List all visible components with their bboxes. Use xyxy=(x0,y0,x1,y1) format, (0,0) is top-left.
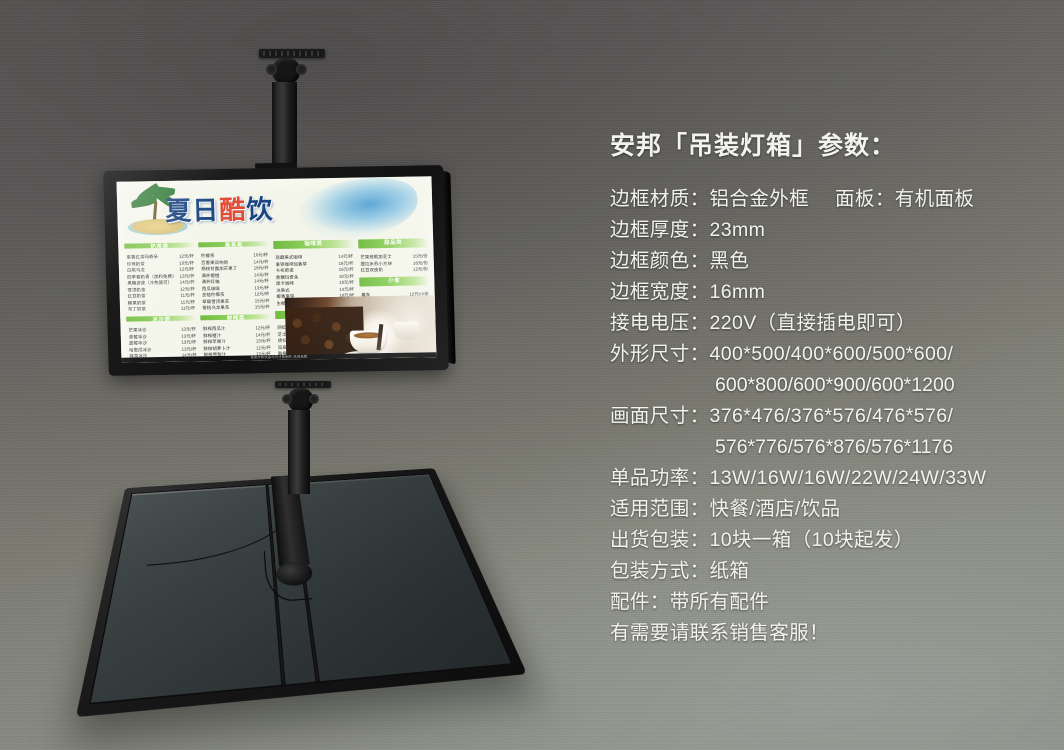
menu-section-rows: 蜜香红茶玛奇朵12元/杯珍珠奶茶10元/杯白桃乌龙12元/杯四季春奶青（加料免费… xyxy=(124,252,196,311)
pivot-nut-right xyxy=(296,64,307,75)
menu-item-name: 摩卡咖啡 xyxy=(276,281,294,286)
poster-title-char-1: 夏 xyxy=(165,195,193,225)
spec-label: 边框宽度： xyxy=(610,281,710,303)
menu-item-price: 12元/杯 xyxy=(176,266,194,271)
menu-item-name: 拿铁咖啡加香草 xyxy=(275,261,307,267)
menu-item-price: 16元/份 xyxy=(410,260,428,265)
menu-item-price: 13元/杯 xyxy=(178,333,196,338)
menu-item-price: 14元/杯 xyxy=(251,272,269,277)
spec-line: 外形尺寸：400*500/400*600/500*600/ xyxy=(610,339,1060,370)
menu-item-row: 冰美式14元/杯 xyxy=(276,286,354,292)
spec-value-secondary: 有机面板 xyxy=(895,188,975,210)
menu-item-price: 14元/杯 xyxy=(335,254,353,259)
menu-section-header: 甜品类 xyxy=(358,238,429,248)
menu-item-row: 杨枝甘露加芒果丁16元/杯 xyxy=(201,265,268,271)
menu-item-price: 10元/杯 xyxy=(176,260,194,265)
menu-item-row: 哈密瓜冰沙13元/杯 xyxy=(129,346,196,352)
spec-value-continued: 576*776/576*876/576*1176 xyxy=(610,432,1060,463)
menu-section-rows: 柠檬茶10元/杯百香果双响炮14元/杯杨枝甘露加芒果丁16元/杯满杯橙橙14元/… xyxy=(199,251,271,310)
specs-footer: 有需要请联系销售客服！ xyxy=(610,618,1060,649)
menu-item-price: 14元/杯 xyxy=(251,278,269,283)
drop-pole-lower xyxy=(288,410,310,494)
menu-item-row: 满杯红柚14元/杯 xyxy=(202,278,269,284)
spec-value-continued: 600*800/600*900/600*1200 xyxy=(610,370,1060,401)
spec-label: 出货包装： xyxy=(610,529,710,551)
menu-item-name: 鲜榨西瓜汁 xyxy=(203,326,226,331)
menu-item-row: 红豆奶茶11元/杯 xyxy=(128,292,195,298)
menu-item-name: 蜜桃乌龙果茶 xyxy=(202,305,229,310)
water-splash-illustration xyxy=(295,176,422,244)
menu-item-name: 鲜榨胡萝卜汁 xyxy=(203,345,230,350)
menu-item-name: 杨枝甘露加芒果丁 xyxy=(201,266,237,272)
menu-item-price: 10元/杯 xyxy=(250,252,268,257)
menu-item-price: 14元/杯 xyxy=(336,286,354,291)
menu-item-price: 16元/杯 xyxy=(335,260,353,265)
spec-line: 画面尺寸：376*476/376*576/476*576/ xyxy=(610,401,1060,432)
menu-item-price: 14元/杯 xyxy=(177,279,195,284)
menu-item-price: 16元/杯 xyxy=(336,267,354,272)
coffee-photo xyxy=(285,295,437,360)
menu-item-price: 13元/杯 xyxy=(179,346,197,351)
menu-item-name: 冰美式 xyxy=(276,288,290,293)
menu-poster: 夏日酷饮 奶茶类 蜜香红茶玛奇朵12元/杯珍珠奶茶10元/杯白桃乌龙12元/杯四… xyxy=(116,176,436,362)
lower-pivot-nut-left xyxy=(282,394,292,404)
unlit-lightbox-back xyxy=(89,474,513,705)
menu-item-row: 红豆双皮奶12元/份 xyxy=(361,266,428,272)
spec-line: 出货包装：10块一箱（10块起发） xyxy=(610,525,1060,556)
spec-line: 边框材质：铝合金外框面板：有机面板 xyxy=(610,184,1060,215)
spec-label: 边框材质： xyxy=(610,188,710,210)
spec-value: 220V（直接插电即可） xyxy=(710,312,916,334)
menu-item-price: 14元/杯 xyxy=(253,332,271,337)
menu-item-row: 蜜桃乌龙果茶15元/杯 xyxy=(202,304,269,310)
menu-item-name: 金桔柠檬茶 xyxy=(202,292,225,297)
menu-item-row: 满杯橙橙14元/杯 xyxy=(201,272,268,278)
poster-title-char-4: 饮 xyxy=(246,194,274,224)
spec-line: 边框宽度：16mm xyxy=(610,277,1060,308)
menu-item-price: 15元/杯 xyxy=(252,304,270,309)
menu-item-name: 黑糖波波（冷热皆可） xyxy=(127,280,172,286)
menu-item-name: 雪顶奶茶 xyxy=(127,287,145,292)
spec-value: 400*500/400*600/500*600/ xyxy=(710,343,954,365)
lower-pivot-nut-right xyxy=(309,394,319,404)
spec-label: 单品功率： xyxy=(610,467,710,489)
spec-line: 适用范围：快餐/酒店/饮品 xyxy=(610,494,1060,525)
product-photo-stage: 夏日酷饮 奶茶类 蜜香红茶玛奇朵12元/杯珍珠奶茶10元/杯白桃乌龙12元/杯四… xyxy=(0,0,1064,750)
menu-column-2: 果茶类 柠檬茶10元/杯百香果双响炮14元/杯杨枝甘露加芒果丁16元/杯满杯橙橙… xyxy=(199,241,273,357)
menu-item-name: 西瓜啵啵 xyxy=(202,285,220,290)
menu-item-row: 草莓雪顶果茶15元/杯 xyxy=(202,298,269,304)
menu-item-row: 拿铁咖啡加香草16元/杯 xyxy=(275,260,353,266)
spec-value: 黑色 xyxy=(710,250,750,272)
spec-value: 376*476/376*576/476*576/ xyxy=(710,405,954,427)
menu-item-name: 草莓冰沙 xyxy=(129,334,147,339)
poster-title: 夏日酷饮 xyxy=(165,189,274,228)
menu-section-header: 小食 xyxy=(359,276,430,286)
lower-mount-plate-holes xyxy=(279,383,327,386)
menu-section-header: 鲜榨类 xyxy=(201,314,271,320)
menu-item-name: 白桃乌龙 xyxy=(127,267,145,272)
spec-value: 纸箱 xyxy=(710,560,750,582)
menu-item-name: 鲜榨橙汁 xyxy=(203,332,221,337)
spec-line: 单品功率：13W/16W/16W/22W/24W/33W xyxy=(610,463,1060,494)
menu-item-row: 鲜榨橙汁14元/杯 xyxy=(203,332,270,338)
menu-item-row: 四季春奶青（加料免费）13元/杯 xyxy=(127,273,194,279)
menu-item-row: 椰果奶茶11元/杯 xyxy=(128,299,195,305)
menu-item-price: 12元/杯 xyxy=(253,345,271,350)
menu-item-row: 蜜香红茶玛奇朵12元/杯 xyxy=(126,253,193,259)
spec-value: 10块一箱（10块起发） xyxy=(710,529,914,551)
menu-item-price: 11元/杯 xyxy=(177,292,195,297)
menu-item-price: 16元/杯 xyxy=(251,265,269,270)
menu-item-price: 11元/杯 xyxy=(178,299,196,304)
poster-title-char-3: 酷 xyxy=(219,195,247,225)
menu-item-price: 18元/杯 xyxy=(336,273,354,278)
spec-line: 边框颜色：黑色 xyxy=(610,246,1060,277)
menu-item-row: 鲜榨胡萝卜汁12元/杯 xyxy=(203,345,270,351)
menu-item-name: 珍珠奶茶 xyxy=(127,261,145,266)
menu-item-name: 百香果双响炮 xyxy=(201,259,228,264)
menu-item-price: 12元/份 xyxy=(410,266,428,271)
spec-value: 快餐/酒店/饮品 xyxy=(710,498,841,520)
menu-item-name: 提拉米苏小方块 xyxy=(360,260,392,266)
spec-label: 包装方式： xyxy=(610,560,710,582)
menu-item-price: 13元/杯 xyxy=(253,338,271,343)
menu-section-rows: 芒果冰沙13元/杯草莓冰沙13元/杯蓝莓冰沙13元/杯哈密瓜冰沙13元/杯抹茶冰… xyxy=(127,325,198,358)
menu-item-name: 草莓雪顶果茶 xyxy=(202,298,229,303)
menu-item-row: 百香果双响炮14元/杯 xyxy=(201,259,268,265)
menu-item-row: 现磨美式咖啡14元/杯 xyxy=(275,254,353,260)
menu-item-row: 西瓜啵啵13元/杯 xyxy=(202,285,269,291)
ceiling-mount-plate xyxy=(259,49,325,58)
poster-title-char-2: 日 xyxy=(192,195,220,225)
lightbox-display-panel: 夏日酷饮 奶茶类 蜜香红茶玛奇朵12元/杯珍珠奶茶10元/杯白桃乌龙12元/杯四… xyxy=(116,176,436,362)
menu-section-header: 咖啡类 xyxy=(273,240,354,250)
menu-item-name: 焦糖玛奇朵 xyxy=(276,274,299,279)
spec-label: 配件： xyxy=(610,591,670,613)
menu-item-name: 红豆奶茶 xyxy=(128,293,146,298)
mount-plate-holes xyxy=(263,51,321,56)
menu-section-header: 冰沙类 xyxy=(126,315,196,321)
spec-line: 包装方式：纸箱 xyxy=(610,556,1060,587)
lit-lightbox: 夏日酷饮 奶茶类 蜜香红茶玛奇朵12元/杯珍珠奶茶10元/杯白桃乌龙12元/杯四… xyxy=(103,165,449,376)
menu-item-price: 12元/杯 xyxy=(176,253,194,258)
menu-section-header: 果茶类 xyxy=(199,241,269,247)
menu-item-row: 蓝莓冰沙13元/杯 xyxy=(129,339,196,345)
menu-section-header: 奶茶类 xyxy=(124,242,194,248)
menu-item-name: 现磨美式咖啡 xyxy=(275,255,302,260)
menu-section-rows: 鲜榨西瓜汁12元/杯鲜榨橙汁14元/杯鲜榨苹果汁13元/杯鲜榨胡萝卜汁12元/杯… xyxy=(201,324,272,357)
menu-item-row: 提拉米苏小方块16元/份 xyxy=(360,260,427,266)
spec-label-secondary: 面板： xyxy=(835,188,895,210)
menu-item-price: 15元/份 xyxy=(410,253,428,258)
menu-item-price: 12元/杯 xyxy=(252,325,270,330)
menu-item-name: 蓝莓冰沙 xyxy=(129,340,147,345)
spec-value: 带所有配件 xyxy=(670,591,770,613)
menu-column-1: 奶茶类 蜜香红茶玛奇朵12元/杯珍珠奶茶10元/杯白桃乌龙12元/杯四季春奶青（… xyxy=(124,242,198,358)
spec-label: 适用范围： xyxy=(610,498,710,520)
menu-section-rows: 芒果班戟加芝士15元/份提拉米苏小方块16元/份红豆双皮奶12元/份 xyxy=(358,252,429,272)
menu-item-row: 鲜榨苹果汁13元/杯 xyxy=(203,338,270,344)
menu-item-row: 金桔柠檬茶12元/杯 xyxy=(202,291,269,297)
menu-item-name: 红豆双皮奶 xyxy=(361,267,384,272)
menu-item-price: 13元/杯 xyxy=(178,339,196,344)
menu-item-row: 柠檬茶10元/杯 xyxy=(201,252,268,258)
spec-label: 外形尺寸： xyxy=(610,343,710,365)
menu-item-name: 芒果冰沙 xyxy=(129,327,147,332)
menu-item-name: 满杯红柚 xyxy=(202,279,220,284)
specifications-panel: 安邦「吊装灯箱」参数： 边框材质：铝合金外框面板：有机面板边框厚度：23mm边框… xyxy=(610,126,1060,649)
menu-item-row: 布丁奶茶11元/杯 xyxy=(128,305,195,311)
pivot-nut-left xyxy=(266,64,277,75)
spec-label: 边框厚度： xyxy=(610,219,710,241)
menu-item-row: 芒果冰沙13元/杯 xyxy=(129,326,196,332)
menu-item-price: 12元/杯 xyxy=(177,286,195,291)
menu-item-row: 珍珠奶茶10元/杯 xyxy=(127,260,194,266)
menu-item-row: 焦糖玛奇朵18元/杯 xyxy=(276,273,354,279)
menu-item-row: 雪顶奶茶12元/杯 xyxy=(127,286,194,292)
menu-item-price: 13元/杯 xyxy=(178,326,196,331)
menu-item-row: 草莓冰沙13元/杯 xyxy=(129,333,196,339)
menu-item-name: 蜜香红茶玛奇朵 xyxy=(126,254,158,260)
spec-value: 13W/16W/16W/22W/24W/33W xyxy=(710,467,987,489)
menu-item-row: 摩卡咖啡18元/杯 xyxy=(276,280,354,286)
menu-item-name: 柠檬茶 xyxy=(201,253,215,258)
lower-mount-plate xyxy=(275,381,331,388)
specs-list: 边框材质：铝合金外框面板：有机面板边框厚度：23mm边框颜色：黑色边框宽度：16… xyxy=(610,184,1060,618)
spec-line: 配件：带所有配件 xyxy=(610,587,1060,618)
menu-item-row: 芒果班戟加芝士15元/份 xyxy=(360,253,427,259)
menu-item-name: 布丁奶茶 xyxy=(128,306,146,311)
spec-label: 边框颜色： xyxy=(610,250,710,272)
menu-item-price: 13元/杯 xyxy=(251,285,269,290)
specs-title: 安邦「吊装灯箱」参数： xyxy=(610,126,1060,162)
menu-item-price: 12元/杯 xyxy=(251,291,269,296)
spec-label: 接电电压： xyxy=(610,312,710,334)
menu-item-name: 四季春奶青（加料免费） xyxy=(127,273,177,279)
spec-line: 边框厚度：23mm xyxy=(610,215,1060,246)
menu-item-price: 18元/杯 xyxy=(336,280,354,285)
menu-item-row: 黑糖波波（冷热皆可）14元/杯 xyxy=(127,279,194,285)
menu-item-price: 11元/杯 xyxy=(178,305,196,310)
menu-item-price: 13元/杯 xyxy=(177,273,195,278)
menu-item-row: 白桃乌龙12元/杯 xyxy=(127,266,194,272)
menu-item-price: 15元/杯 xyxy=(252,298,270,303)
menu-item-name: 椰果奶茶 xyxy=(128,300,146,305)
spec-value: 23mm xyxy=(710,219,766,241)
menu-item-name: 鲜榨苹果汁 xyxy=(203,339,226,344)
spec-value: 铝合金外框 xyxy=(710,188,810,210)
menu-item-name: 满杯橙橙 xyxy=(201,272,219,277)
menu-item-name: 芒果班戟加芝士 xyxy=(360,254,392,260)
menu-item-name: 哈密瓜冰沙 xyxy=(129,347,152,352)
spec-line: 接电电压：220V（直接插电即可） xyxy=(610,308,1060,339)
lightbox-aluminum-frame: 夏日酷饮 奶茶类 蜜香红茶玛奇朵12元/杯珍珠奶茶10元/杯白桃乌龙12元/杯四… xyxy=(103,165,449,376)
menu-item-price: 14元/杯 xyxy=(250,259,268,264)
coffee-cup-secondary xyxy=(393,322,420,340)
menu-item-row: 卡布奇诺16元/杯 xyxy=(276,267,354,273)
spec-label: 画面尺寸： xyxy=(610,405,710,427)
menu-item-row: 鲜榨西瓜汁12元/杯 xyxy=(203,325,270,331)
menu-item-name: 卡布奇诺 xyxy=(276,268,294,273)
spec-value: 16mm xyxy=(710,281,766,303)
